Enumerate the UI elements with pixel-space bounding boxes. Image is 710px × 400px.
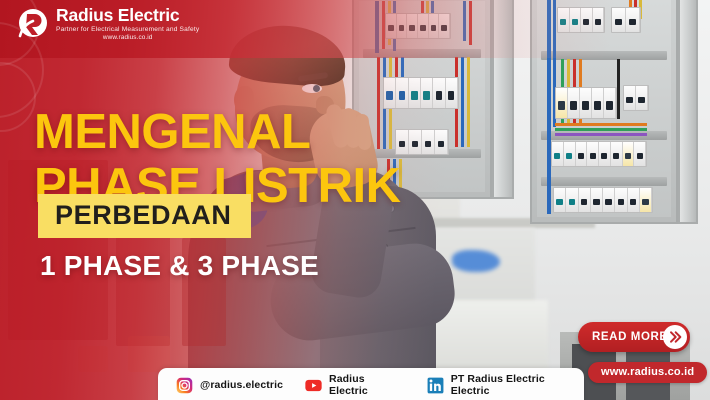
brand-logo[interactable]: Radius Electric Partner for Electrical M…: [14, 6, 199, 42]
logo-name: Radius Electric: [56, 7, 199, 25]
logo-tagline: Partner for Electrical Measurement and S…: [56, 27, 199, 34]
social-item-youtube[interactable]: Radius Electric: [305, 373, 405, 397]
instagram-handle: @radius.electric: [200, 379, 283, 391]
youtube-icon: [305, 377, 322, 394]
double-chevron-right-icon: [663, 325, 687, 349]
read-more-button[interactable]: READ MORE: [578, 322, 690, 352]
social-item-instagram[interactable]: @radius.electric: [176, 377, 283, 394]
social-media-bar: @radius.electric Radius Electric PT: [158, 368, 584, 400]
read-more-label: READ MORE: [592, 331, 668, 343]
linkedin-icon: [427, 377, 444, 394]
instagram-icon: [176, 377, 193, 394]
website-url-pill[interactable]: www.radius.co.id: [588, 362, 707, 383]
subheadline: 1 PHASE & 3 PHASE: [40, 250, 319, 282]
promotional-banner: Radius Electric Partner for Electrical M…: [0, 0, 710, 400]
youtube-channel: Radius Electric: [329, 373, 405, 397]
social-item-linkedin[interactable]: PT Radius Electric Electric: [427, 373, 584, 397]
headline-line-1: MENGENAL: [34, 105, 310, 159]
logo-text-block: Radius Electric Partner for Electrical M…: [56, 7, 199, 42]
radius-r-monogram-icon: [14, 6, 50, 42]
logo-url: www.radius.co.id: [56, 35, 199, 41]
perbedaan-badge: PERBEDAAN: [38, 194, 251, 238]
linkedin-page: PT Radius Electric Electric: [451, 373, 584, 397]
